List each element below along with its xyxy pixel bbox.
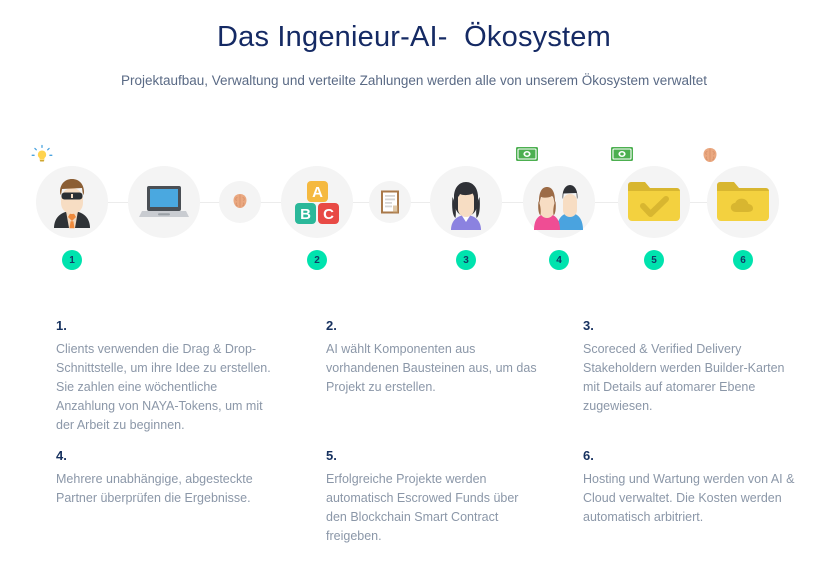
step-text: Erfolgreiche Projekte werden automatisch…: [326, 470, 541, 546]
step-text: AI wählt Komponenten aus vorhandenen Bau…: [326, 340, 541, 397]
couple-avatar-icon: [523, 166, 595, 238]
folder-cloud-icon: [707, 166, 779, 238]
step-number: 3.: [583, 318, 798, 333]
step-number: 2.: [326, 318, 541, 333]
step-badge-2: 2: [307, 250, 327, 270]
timeline-node-5[interactable]: 5: [618, 150, 690, 270]
step-item-6: 6. Hosting und Wartung werden von AI & C…: [583, 448, 798, 527]
money-note-icon: [610, 146, 634, 166]
step-number: 1.: [56, 318, 271, 333]
timeline: 1: [0, 150, 828, 280]
header: Das Ingenieur-AI- Ökosystem Projektaufba…: [0, 0, 828, 88]
step-badge-1: 1: [62, 250, 82, 270]
folder-check-icon: [618, 166, 690, 238]
brain-icon: [219, 181, 261, 223]
document-icon: [369, 181, 411, 223]
step-text: Clients verwenden die Drag & Drop-Schnit…: [56, 340, 271, 435]
ecosystem-infographic: Das Ingenieur-AI- Ökosystem Projektaufba…: [0, 0, 828, 586]
step-text: Scoreced & Verified Delivery Stakeholder…: [583, 340, 798, 416]
step-badge-5: 5: [644, 250, 664, 270]
timeline-node-2[interactable]: A B C 2: [281, 150, 353, 270]
woman-avatar-icon: [430, 166, 502, 238]
businessman-idea-icon: [36, 166, 108, 238]
svg-text:B: B: [300, 206, 311, 223]
laptop-icon: [128, 166, 200, 238]
svg-text:C: C: [323, 206, 334, 223]
step-number: 6.: [583, 448, 798, 463]
timeline-node-6[interactable]: 6: [707, 150, 779, 270]
step-badge-3: 3: [456, 250, 476, 270]
timeline-node-laptop[interactable]: [128, 150, 200, 238]
step-item-1: 1. Clients verwenden die Drag & Drop-Sch…: [56, 318, 271, 435]
page-subtitle: Projektaufbau, Verwaltung und verteilte …: [0, 73, 828, 88]
abc-blocks-icon: A B C: [281, 166, 353, 238]
step-text: Mehrere unabhängige, abgesteckte Partner…: [56, 470, 271, 508]
page-title: Das Ingenieur-AI- Ökosystem: [0, 20, 828, 55]
brain-icon: [699, 146, 723, 166]
step-text: Hosting und Wartung werden von AI & Clou…: [583, 470, 798, 527]
step-item-5: 5. Erfolgreiche Projekte werden automati…: [326, 448, 541, 546]
step-number: 5.: [326, 448, 541, 463]
step-item-3: 3. Scoreced & Verified Delivery Stakehol…: [583, 318, 798, 416]
timeline-node-document[interactable]: [369, 150, 411, 223]
timeline-node-brain[interactable]: [219, 150, 261, 223]
step-badge-4: 4: [549, 250, 569, 270]
svg-text:A: A: [312, 184, 323, 201]
lightbulb-icon: [30, 144, 54, 164]
step-number: 4.: [56, 448, 271, 463]
timeline-node-3[interactable]: 3: [430, 150, 502, 270]
money-note-icon: [515, 146, 539, 166]
timeline-node-1[interactable]: 1: [36, 150, 108, 270]
step-item-2: 2. AI wählt Komponenten aus vorhandenen …: [326, 318, 541, 397]
step-badge-6: 6: [733, 250, 753, 270]
timeline-node-4[interactable]: 4: [523, 150, 595, 270]
step-item-4: 4. Mehrere unabhängige, abgesteckte Part…: [56, 448, 271, 508]
